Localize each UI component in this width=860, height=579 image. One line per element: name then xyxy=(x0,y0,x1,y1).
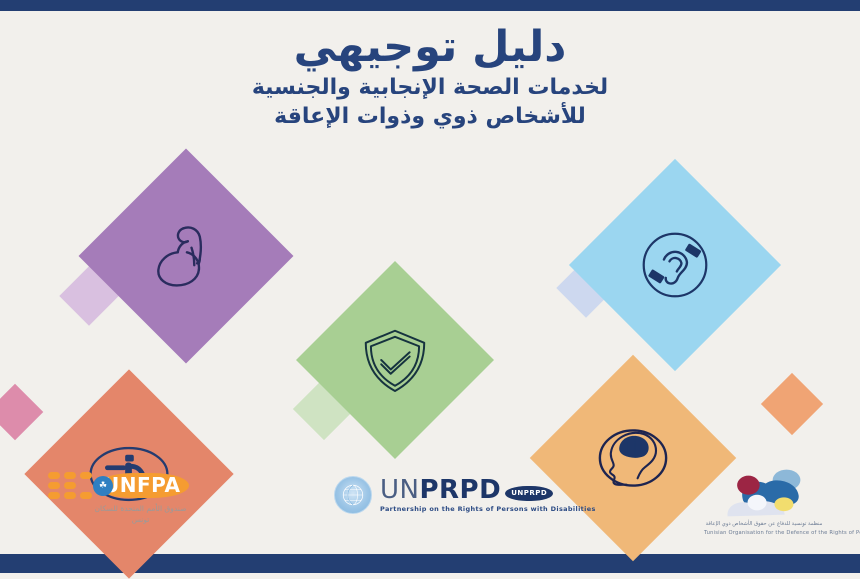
unfpa-dot-grid-icon xyxy=(48,472,92,499)
shield-check-icon xyxy=(352,317,438,403)
unprpd-wordmark: UNPRPDUNPRPD xyxy=(380,477,596,503)
top-band xyxy=(0,0,860,11)
partner-organisation-logo: منظمة تونسية للدفاع عن حقوق الأشخاص ذوي … xyxy=(704,466,824,538)
title-block: دليل توجيهي لخدمات الصحة الإنجابية والجن… xyxy=(0,24,860,131)
un-emblem-icon: ☘ xyxy=(93,476,113,496)
partner-english-caption: Tunisian Organisation for the Defence of… xyxy=(704,529,824,538)
unprpd-logo: UNPRPDUNPRPD Partnership on the Rights o… xyxy=(334,476,579,514)
unprpd-prefix: UN xyxy=(380,475,419,505)
tile-pregnancy xyxy=(79,149,294,364)
cover-page: دليل توجيهي لخدمات الصحة الإنجابية والجن… xyxy=(0,0,860,573)
unfpa-arabic-line2: تونس xyxy=(48,514,233,525)
unprpd-tagline: Partnership on the Rights of Persons wit… xyxy=(380,506,596,513)
logo-bar: ☘ UNFPA صندوق الأمم المتحدة للسكان تونس … xyxy=(0,464,860,554)
partner-arabic-caption: منظمة تونسية للدفاع عن حقوق الأشخاص ذوي … xyxy=(704,520,824,529)
accent-diamond-salmon xyxy=(761,373,823,435)
unprpd-suffix: PRPD xyxy=(419,475,501,505)
page-title: دليل توجيهي xyxy=(0,24,860,70)
partner-figures-icon xyxy=(712,466,816,520)
page-subtitle-line2: للأشخاص ذوي وذوات الإعاقة xyxy=(0,103,860,131)
deaf-ear-icon xyxy=(629,219,721,311)
tile-hearing xyxy=(569,159,781,371)
accent-diamond-pink xyxy=(0,384,43,441)
page-subtitle-line1: لخدمات الصحة الإنجابية والجنسية xyxy=(0,74,860,102)
icon-tile-group xyxy=(0,150,860,470)
unfpa-arabic-caption: صندوق الأمم المتحدة للسكان تونس xyxy=(48,503,233,526)
un-globe-emblem-icon xyxy=(334,476,372,514)
unfpa-arabic-line1: صندوق الأمم المتحدة للسكان xyxy=(48,503,233,514)
unfpa-logo: ☘ UNFPA صندوق الأمم المتحدة للسكان تونس xyxy=(48,472,233,526)
pregnant-woman-icon xyxy=(140,210,232,302)
unprpd-badge: UNPRPD xyxy=(505,486,553,501)
